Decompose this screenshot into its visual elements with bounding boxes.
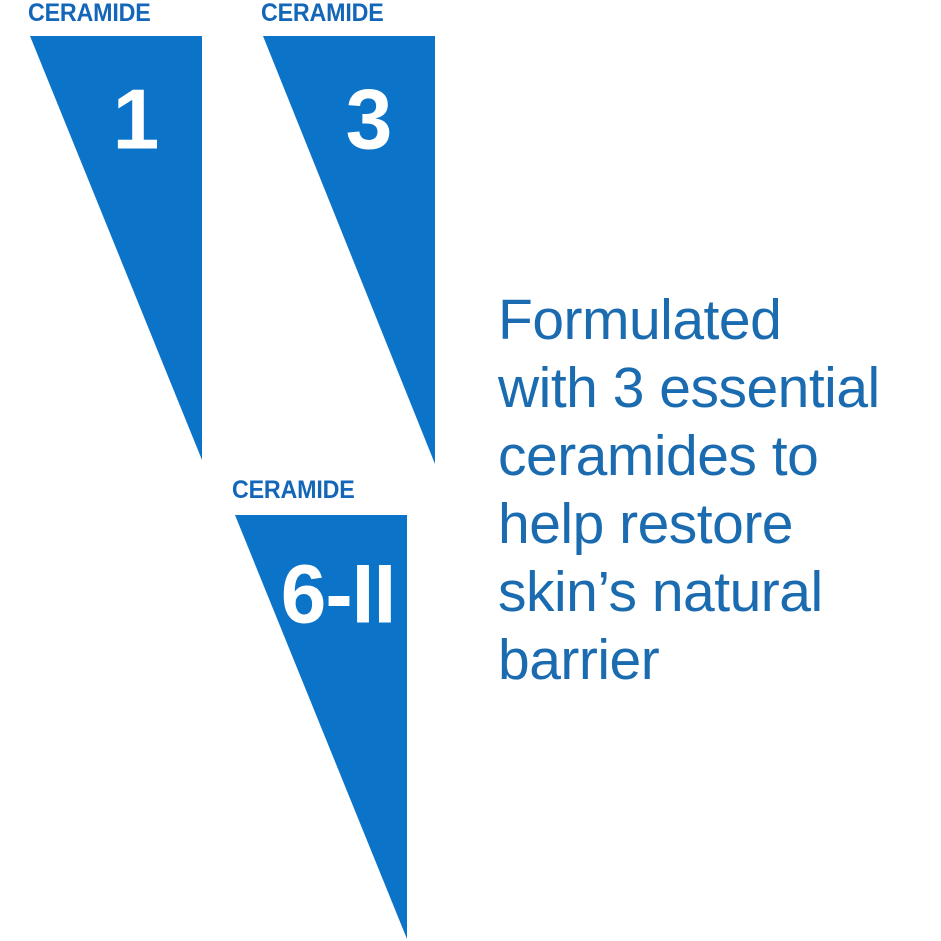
copy-line-3: ceramides to: [498, 422, 928, 490]
headline-copy: Formulated with 3 essential ceramides to…: [498, 286, 928, 694]
copy-line-1: Formulated: [498, 286, 928, 354]
ceramide-label-3: CERAMIDE: [232, 478, 355, 503]
ceramide-infographic: CERAMIDE 1 CERAMIDE 3 CERAMIDE 6-II Form…: [0, 0, 941, 941]
ceramide-number-3: 6-II: [278, 553, 398, 637]
copy-line-6: barrier: [498, 626, 928, 694]
ceramide-number-2: 3: [337, 76, 401, 162]
copy-line-2: with 3 essential: [498, 354, 928, 422]
ceramide-label-1: CERAMIDE: [28, 1, 151, 26]
copy-line-5: skin’s natural: [498, 558, 928, 626]
ceramide-number-1: 1: [104, 76, 168, 162]
copy-line-4: help restore: [498, 490, 928, 558]
ceramide-label-2: CERAMIDE: [261, 1, 384, 26]
